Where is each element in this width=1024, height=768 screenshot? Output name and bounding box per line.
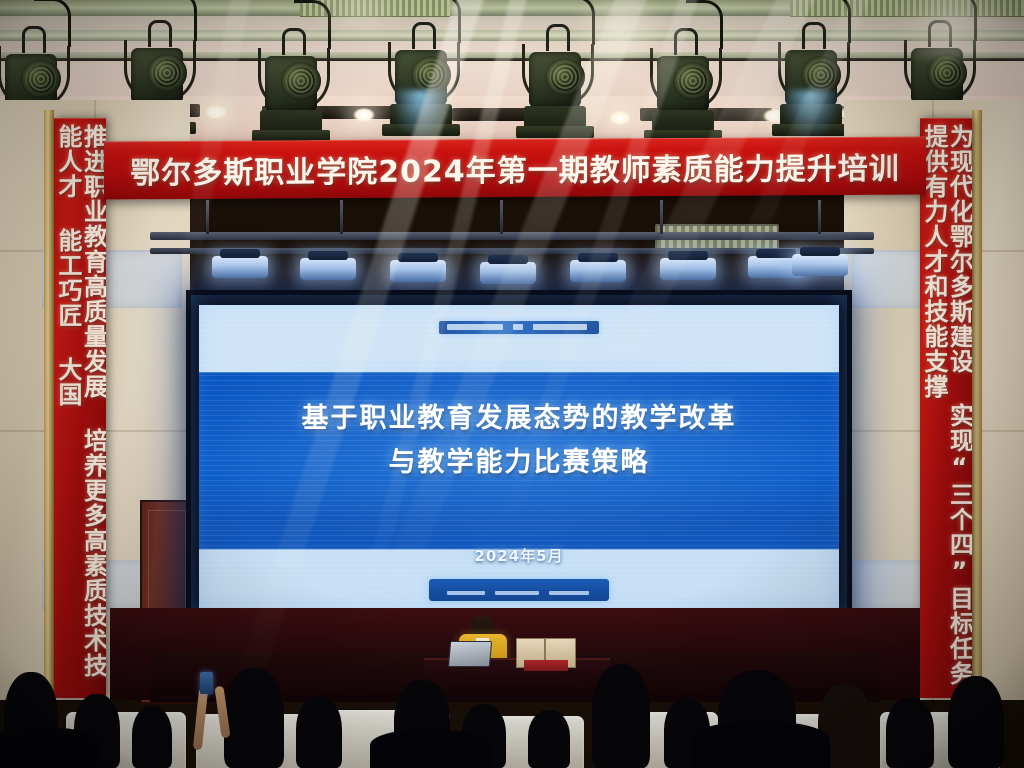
led-wash-light — [660, 258, 716, 280]
light-lens — [411, 56, 451, 94]
hang-rod — [206, 200, 209, 234]
audience-head — [132, 706, 172, 768]
hang-rod — [500, 200, 503, 234]
slide-title-line1: 基于职业教育发展态势的教学改革 — [199, 397, 839, 441]
main-headline-text: 鄂尔多斯职业学院2024年第一期教师素质能力提升培训 — [130, 144, 900, 193]
audience-shoulders — [370, 730, 490, 768]
right-banner-text: 为现代化鄂尔多斯建设 实现“三个四”目标任务提供有力人才和技能支撑 — [921, 118, 972, 698]
audience-area — [0, 638, 1024, 768]
light-housing — [265, 56, 317, 112]
hang-rod — [818, 200, 821, 234]
led-wash-light — [570, 260, 626, 282]
light-base — [524, 106, 586, 128]
lighting-hang-bar — [150, 232, 874, 240]
light-lens — [673, 62, 713, 100]
light-lens — [21, 60, 61, 98]
led-projection-screen[interactable]: 基于职业教育发展态势的教学改革 与教学能力比赛策略 2024年5月 — [186, 290, 852, 622]
fresnel-stage-light — [254, 44, 328, 148]
light-beam-glow — [394, 90, 448, 136]
light-mount-plate — [516, 126, 594, 138]
audience-head — [224, 668, 284, 768]
taskbar-item — [495, 591, 539, 595]
fresnel-stage-light — [384, 38, 458, 142]
audience-shoulders — [690, 722, 830, 768]
led-wash-light — [480, 262, 536, 284]
raised-phone[interactable] — [200, 672, 213, 694]
presentation-slide: 基于职业教育发展态势的教学改革 与教学能力比赛策略 2024年5月 — [199, 305, 839, 609]
audience-shoulders — [0, 728, 100, 768]
photo-canvas: 推进职业教育高质量发展 培养更多高素质技术技能人才 能工巧匠 大国 为现代化鄂尔… — [0, 0, 1024, 768]
logo-mark — [447, 324, 503, 330]
logo-mark — [533, 324, 587, 330]
audience-head — [528, 710, 570, 768]
light-housing — [657, 56, 709, 112]
fresnel-stage-light — [646, 44, 720, 148]
logo-mark — [513, 324, 523, 330]
right-vertical-banner: 为现代化鄂尔多斯建设 实现“三个四”目标任务提供有力人才和技能支撑 — [920, 118, 972, 698]
light-base — [260, 110, 322, 132]
light-lens — [927, 54, 967, 92]
slide-top-logo-bar — [439, 321, 599, 334]
slide-title-line2: 与教学能力比赛策略 — [199, 441, 839, 485]
slide-date: 2024年5月 — [199, 545, 839, 566]
audience-head — [592, 664, 650, 768]
left-banner-text: 推进职业教育高质量发展 培养更多高素质技术技能人才 能工巧匠 大国 — [55, 118, 106, 698]
main-headline-banner: 鄂尔多斯职业学院2024年第一期教师素质能力提升培训 — [104, 136, 926, 199]
light-beam-glow — [784, 90, 838, 136]
led-wash-light — [792, 254, 848, 276]
light-housing — [131, 48, 183, 104]
light-lens — [545, 58, 585, 96]
slide-bottom-taskbar[interactable] — [429, 579, 609, 601]
taskbar-item — [549, 591, 589, 595]
recessed-ceiling-downlight — [204, 104, 228, 120]
recessed-ceiling-downlight — [608, 110, 632, 126]
banner-pole-right — [972, 110, 982, 710]
fresnel-stage-light — [774, 38, 848, 142]
slide-title: 基于职业教育发展态势的教学改革 与教学能力比赛策略 — [199, 397, 839, 484]
light-lens — [281, 62, 321, 100]
left-vertical-banner: 推进职业教育高质量发展 培养更多高素质技术技能人才 能工巧匠 大国 — [54, 118, 106, 698]
banner-pole-left — [44, 110, 54, 710]
light-base — [652, 110, 714, 132]
light-housing — [529, 52, 581, 108]
hang-rod — [660, 200, 663, 234]
taskbar-item — [447, 591, 485, 595]
audience-head — [886, 698, 934, 768]
audience-head — [948, 676, 1004, 768]
led-wash-light — [300, 258, 356, 280]
light-lens — [147, 54, 187, 92]
audience-head — [296, 696, 342, 768]
led-wash-light — [212, 256, 268, 278]
light-lens — [801, 56, 841, 94]
recessed-ceiling-downlight — [352, 107, 376, 123]
led-wash-light — [390, 260, 446, 282]
hang-rod — [340, 200, 343, 234]
fresnel-stage-light — [518, 40, 592, 144]
light-housing — [911, 48, 963, 104]
